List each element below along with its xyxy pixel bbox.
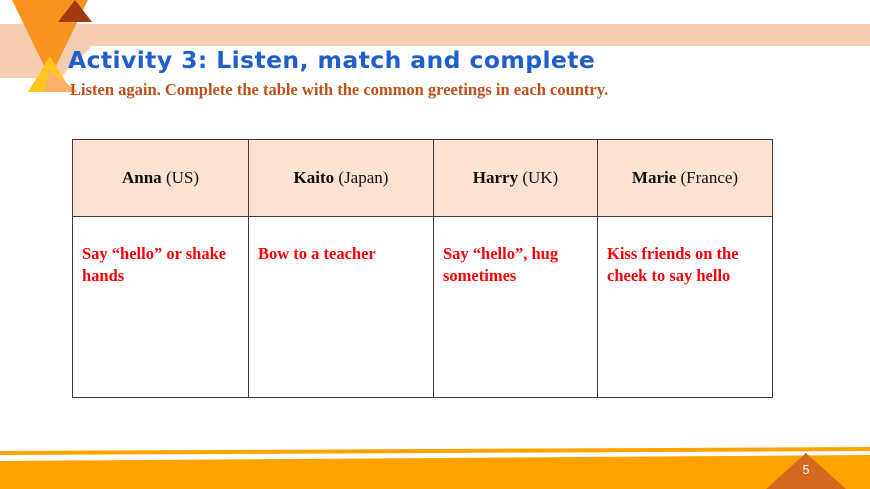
header-name-marie: Marie	[632, 168, 676, 187]
header-name-harry: Harry	[473, 168, 518, 187]
answer-cell-harry[interactable]: Say “hello”, hug sometimes	[434, 217, 598, 398]
header-country-kaito: (Japan)	[338, 168, 388, 187]
brown-triangle-small	[58, 0, 92, 22]
header-country-marie: (France)	[681, 168, 739, 187]
table-header-cell-marie: Marie (France)	[598, 140, 773, 217]
yellow-triangle	[28, 56, 72, 92]
table-header-cell-harry: Harry (UK)	[434, 140, 598, 217]
page-number: 5	[794, 463, 818, 477]
header-name-anna: Anna	[122, 168, 162, 187]
slide-canvas: Activity 3: Listen, match and complete L…	[0, 0, 870, 489]
footer-bar	[0, 455, 870, 489]
greetings-table: Anna (US) Kaito (Japan) Harry (UK) Marie…	[72, 139, 773, 398]
header-country-harry: (UK)	[522, 168, 558, 187]
page-title: Activity 3: Listen, match and complete	[68, 48, 808, 74]
bottom-decoration	[0, 437, 870, 489]
answer-cell-anna[interactable]: Say “hello” or shake hands	[73, 217, 249, 398]
title-block: Activity 3: Listen, match and complete L…	[68, 48, 808, 100]
table-answer-row: Say “hello” or shake hands Bow to a teac…	[73, 217, 773, 398]
answer-text-marie: Kiss friends on the cheek to say hello	[607, 243, 766, 287]
instruction-text: Listen again. Complete the table with th…	[70, 81, 808, 100]
header-country-anna: (US)	[166, 168, 199, 187]
table-header-cell-kaito: Kaito (Japan)	[249, 140, 434, 217]
answer-text-harry: Say “hello”, hug sometimes	[443, 243, 591, 287]
answer-cell-kaito[interactable]: Bow to a teacher	[249, 217, 434, 398]
answer-text-kaito: Bow to a teacher	[258, 243, 427, 265]
header-name-kaito: Kaito	[294, 168, 335, 187]
table-header-cell-anna: Anna (US)	[73, 140, 249, 217]
table-header-row: Anna (US) Kaito (Japan) Harry (UK) Marie…	[73, 140, 773, 217]
answer-text-anna: Say “hello” or shake hands	[82, 243, 242, 287]
footer-thin-line	[0, 447, 870, 455]
answer-cell-marie[interactable]: Kiss friends on the cheek to say hello	[598, 217, 773, 398]
